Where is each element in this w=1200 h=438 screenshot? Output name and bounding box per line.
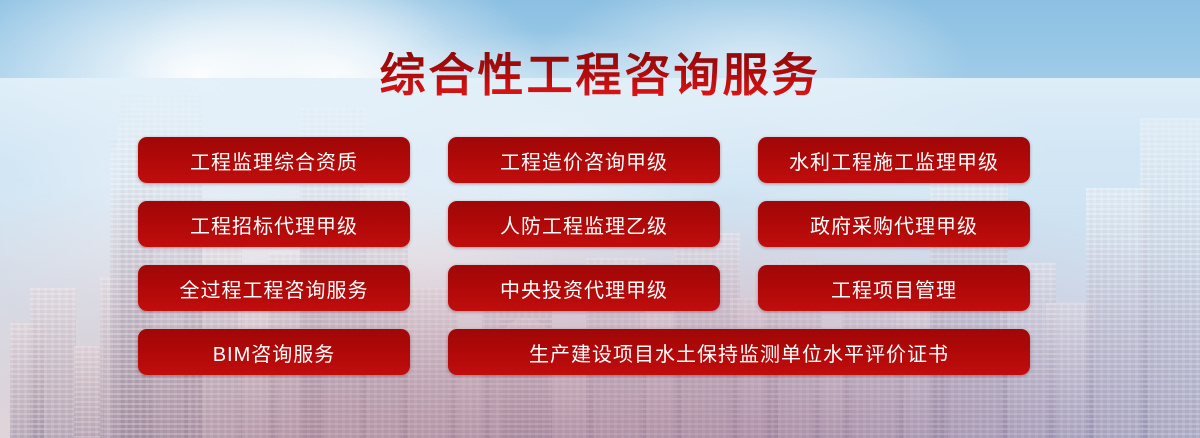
promo-banner: 综合性工程咨询服务 工程监理综合资质 工程造价咨询甲级 水利工程施工监理甲级 工…	[0, 0, 1200, 438]
qualification-row: 工程监理综合资质 工程造价咨询甲级 水利工程施工监理甲级	[138, 137, 1070, 183]
qualification-pill[interactable]: 工程招标代理甲级	[138, 201, 410, 247]
qualification-row: 全过程工程咨询服务 中央投资代理甲级 工程项目管理	[138, 265, 1070, 311]
qualification-pill[interactable]: 中央投资代理甲级	[448, 265, 720, 311]
qualification-pill[interactable]: 工程造价咨询甲级	[448, 137, 720, 183]
qualification-pill[interactable]: 工程监理综合资质	[138, 137, 410, 183]
banner-title: 综合性工程咨询服务	[0, 52, 1200, 98]
qualification-row: BIM咨询服务 生产建设项目水土保持监测单位水平评价证书	[138, 329, 1070, 375]
qualification-row: 工程招标代理甲级 人防工程监理乙级 政府采购代理甲级	[138, 201, 1070, 247]
qualification-pill[interactable]: 人防工程监理乙级	[448, 201, 720, 247]
qualification-pill[interactable]: 工程项目管理	[758, 265, 1030, 311]
qualification-pill-wide[interactable]: 生产建设项目水土保持监测单位水平评价证书	[448, 329, 1030, 375]
qualification-pill[interactable]: 政府采购代理甲级	[758, 201, 1030, 247]
qualification-pill[interactable]: BIM咨询服务	[138, 329, 410, 375]
banner-content: 综合性工程咨询服务 工程监理综合资质 工程造价咨询甲级 水利工程施工监理甲级 工…	[0, 0, 1200, 438]
qualification-grid: 工程监理综合资质 工程造价咨询甲级 水利工程施工监理甲级 工程招标代理甲级 人防…	[138, 137, 1070, 375]
qualification-pill[interactable]: 水利工程施工监理甲级	[758, 137, 1030, 183]
qualification-pill[interactable]: 全过程工程咨询服务	[138, 265, 410, 311]
